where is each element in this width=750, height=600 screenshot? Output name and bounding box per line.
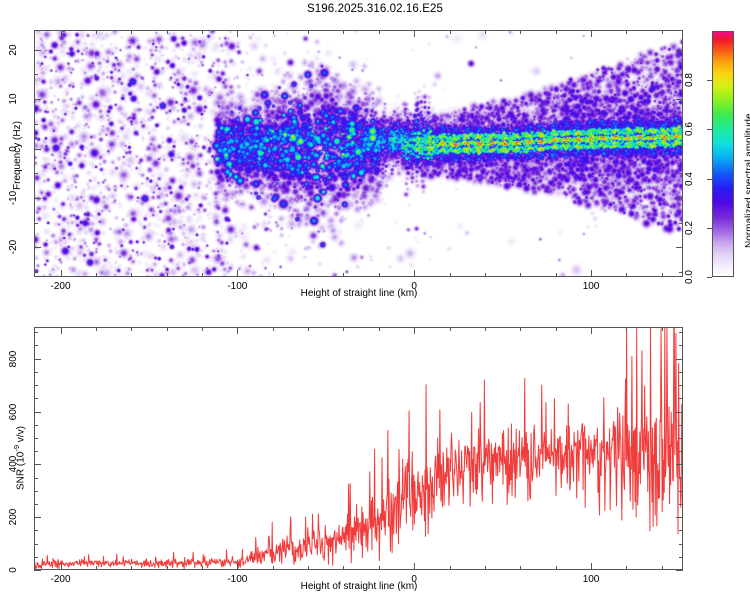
- x-minor-tick: [662, 566, 663, 570]
- snr-trace-svg: [34, 327, 683, 570]
- x-tick-top: [591, 327, 592, 334]
- snr-yaxis-title-exponent: -9: [12, 445, 21, 452]
- y-minor-tick: [679, 557, 683, 558]
- snr-yaxis-title-suffix: v/v): [15, 426, 26, 445]
- y-minor-tick: [679, 425, 683, 426]
- x-minor-tick: [273, 566, 274, 570]
- colorbar-tick-label: 0.2: [683, 214, 697, 242]
- x-minor-tick: [308, 273, 309, 277]
- y-minor-tick: [34, 272, 38, 273]
- y-tick-right: [676, 149, 683, 150]
- y-tick-label: 600: [7, 398, 21, 426]
- x-minor-tick: [202, 273, 203, 277]
- x-minor-tick: [131, 327, 132, 331]
- y-tick-right: [676, 99, 683, 100]
- y-tick-label: 10: [7, 85, 21, 113]
- x-minor-tick: [343, 327, 344, 331]
- y-tick: [34, 247, 41, 248]
- x-minor-tick: [379, 30, 380, 34]
- x-minor-tick: [556, 30, 557, 34]
- spectrogram-yaxis-title: Frequency (Hz): [12, 121, 23, 190]
- y-minor-tick: [34, 504, 38, 505]
- x-minor-tick: [485, 566, 486, 570]
- colorbar-tick-label: 0.6: [683, 115, 697, 143]
- x-tick-top: [414, 327, 415, 334]
- colorbar-tick: [707, 80, 712, 81]
- x-minor-tick: [308, 30, 309, 34]
- x-tick: [591, 563, 592, 570]
- y-minor-tick: [34, 385, 38, 386]
- y-minor-tick: [679, 544, 683, 545]
- x-minor-tick: [167, 30, 168, 34]
- y-minor-tick: [34, 451, 38, 452]
- y-minor-tick: [679, 478, 683, 479]
- x-minor-tick: [202, 30, 203, 34]
- x-minor-tick: [662, 327, 663, 331]
- y-minor-tick: [34, 478, 38, 479]
- snr-xaxis-title: Height of straight line (km): [184, 581, 534, 592]
- x-minor-tick: [520, 566, 521, 570]
- y-minor-tick: [679, 530, 683, 531]
- y-minor-tick: [34, 223, 38, 224]
- x-minor-tick: [343, 30, 344, 34]
- x-minor-tick: [273, 30, 274, 34]
- spectrogram-xaxis-title: Height of straight line (km): [184, 288, 534, 299]
- x-minor-tick: [626, 273, 627, 277]
- x-minor-tick: [556, 327, 557, 331]
- colorbar-tick-label: 0.8: [683, 66, 697, 94]
- x-minor-tick: [131, 566, 132, 570]
- y-tick-right: [676, 412, 683, 413]
- x-minor-tick: [485, 327, 486, 331]
- x-minor-tick: [273, 273, 274, 277]
- y-tick: [34, 359, 41, 360]
- snr-yaxis-title: SNR (10-9 v/v): [12, 426, 26, 490]
- y-minor-tick: [34, 124, 38, 125]
- x-minor-tick: [626, 327, 627, 331]
- y-minor-tick: [34, 425, 38, 426]
- x-tick-top: [61, 30, 62, 37]
- y-minor-tick: [34, 345, 38, 346]
- y-tick-label: 0: [7, 556, 21, 584]
- x-tick: [237, 270, 238, 277]
- y-tick-right: [676, 359, 683, 360]
- y-minor-tick: [679, 504, 683, 505]
- x-tick-top: [414, 30, 415, 37]
- y-tick-right: [676, 570, 683, 571]
- snr-plot-area: [34, 327, 683, 570]
- colorbar-tick: [707, 179, 712, 180]
- colorbar-tick: [707, 129, 712, 130]
- y-tick: [34, 412, 41, 413]
- y-minor-tick: [34, 544, 38, 545]
- x-tick-top: [237, 327, 238, 334]
- y-tick-right: [676, 517, 683, 518]
- snr-yaxis-title-prefix: SNR (10: [15, 452, 26, 490]
- colorbar-tick: [707, 228, 712, 229]
- y-minor-tick: [34, 557, 38, 558]
- x-minor-tick: [450, 273, 451, 277]
- x-tick: [61, 563, 62, 570]
- y-tick-label: 800: [7, 345, 21, 373]
- x-minor-tick: [520, 30, 521, 34]
- x-minor-tick: [308, 566, 309, 570]
- y-tick: [34, 570, 41, 571]
- x-minor-tick: [96, 30, 97, 34]
- spectrogram-plot-area: [34, 30, 683, 277]
- colorbar-title: Normalized spectral amplitude: [744, 113, 750, 248]
- y-tick: [34, 198, 41, 199]
- y-minor-tick: [679, 438, 683, 439]
- x-tick-top: [61, 327, 62, 334]
- x-minor-tick: [520, 273, 521, 277]
- page-title: S196.2025.316.02.16.E25: [0, 3, 750, 15]
- x-minor-tick: [626, 566, 627, 570]
- colorbar-tick: [707, 277, 712, 278]
- colorbar-tick-label: 0.0: [683, 263, 697, 291]
- x-tick: [237, 563, 238, 570]
- spectrogram-panel: [34, 30, 683, 277]
- y-tick-label: -20: [7, 233, 21, 261]
- x-minor-tick: [450, 566, 451, 570]
- x-minor-tick: [167, 273, 168, 277]
- x-minor-tick: [450, 30, 451, 34]
- x-tick-top: [237, 30, 238, 37]
- x-minor-tick: [450, 327, 451, 331]
- x-minor-tick: [556, 566, 557, 570]
- x-minor-tick: [662, 273, 663, 277]
- x-minor-tick: [167, 327, 168, 331]
- y-tick-label: 20: [7, 36, 21, 64]
- x-minor-tick: [167, 566, 168, 570]
- x-minor-tick: [343, 273, 344, 277]
- y-minor-tick: [34, 438, 38, 439]
- y-minor-tick: [679, 385, 683, 386]
- y-minor-tick: [34, 491, 38, 492]
- x-minor-tick: [379, 566, 380, 570]
- y-minor-tick: [679, 398, 683, 399]
- x-minor-tick: [485, 273, 486, 277]
- x-minor-tick: [96, 327, 97, 331]
- x-tick: [414, 563, 415, 570]
- y-tick-right: [676, 50, 683, 51]
- x-minor-tick: [131, 30, 132, 34]
- y-minor-tick: [679, 372, 683, 373]
- x-minor-tick: [379, 273, 380, 277]
- x-minor-tick: [343, 566, 344, 570]
- y-minor-tick: [679, 332, 683, 333]
- x-minor-tick: [520, 327, 521, 331]
- x-minor-tick: [96, 566, 97, 570]
- y-minor-tick: [34, 332, 38, 333]
- y-minor-tick: [34, 530, 38, 531]
- x-minor-tick: [273, 327, 274, 331]
- x-minor-tick: [131, 273, 132, 277]
- y-minor-tick: [34, 372, 38, 373]
- y-minor-tick: [34, 173, 38, 174]
- x-minor-tick: [626, 30, 627, 34]
- y-minor-tick: [34, 398, 38, 399]
- y-minor-tick: [679, 345, 683, 346]
- y-tick-right: [676, 247, 683, 248]
- x-minor-tick: [379, 327, 380, 331]
- x-minor-tick: [662, 30, 663, 34]
- y-minor-tick: [679, 491, 683, 492]
- x-minor-tick: [308, 327, 309, 331]
- x-tick: [414, 270, 415, 277]
- y-tick-label: 200: [7, 503, 21, 531]
- y-tick-right: [676, 464, 683, 465]
- y-minor-tick: [34, 74, 38, 75]
- snr-panel: [34, 327, 683, 570]
- x-tick-label: -200: [51, 281, 71, 292]
- x-tick: [61, 270, 62, 277]
- x-tick-top: [591, 30, 592, 37]
- y-minor-tick: [679, 451, 683, 452]
- x-tick-label: 100: [583, 281, 600, 292]
- x-tick-label: 100: [583, 574, 600, 585]
- x-tick: [591, 270, 592, 277]
- colorbar-tick-label: 0.4: [683, 165, 697, 193]
- x-minor-tick: [556, 273, 557, 277]
- x-minor-tick: [96, 273, 97, 277]
- x-minor-tick: [202, 566, 203, 570]
- x-minor-tick: [202, 327, 203, 331]
- y-tick: [34, 149, 41, 150]
- y-tick: [34, 517, 41, 518]
- x-tick-label: -200: [51, 574, 71, 585]
- y-tick: [34, 464, 41, 465]
- y-tick: [34, 99, 41, 100]
- y-tick-right: [676, 198, 683, 199]
- y-tick: [34, 50, 41, 51]
- colorbar: [712, 31, 734, 277]
- x-minor-tick: [485, 30, 486, 34]
- figure-root: S196.2025.316.02.16.E25 -200-1000100-20-…: [0, 0, 750, 600]
